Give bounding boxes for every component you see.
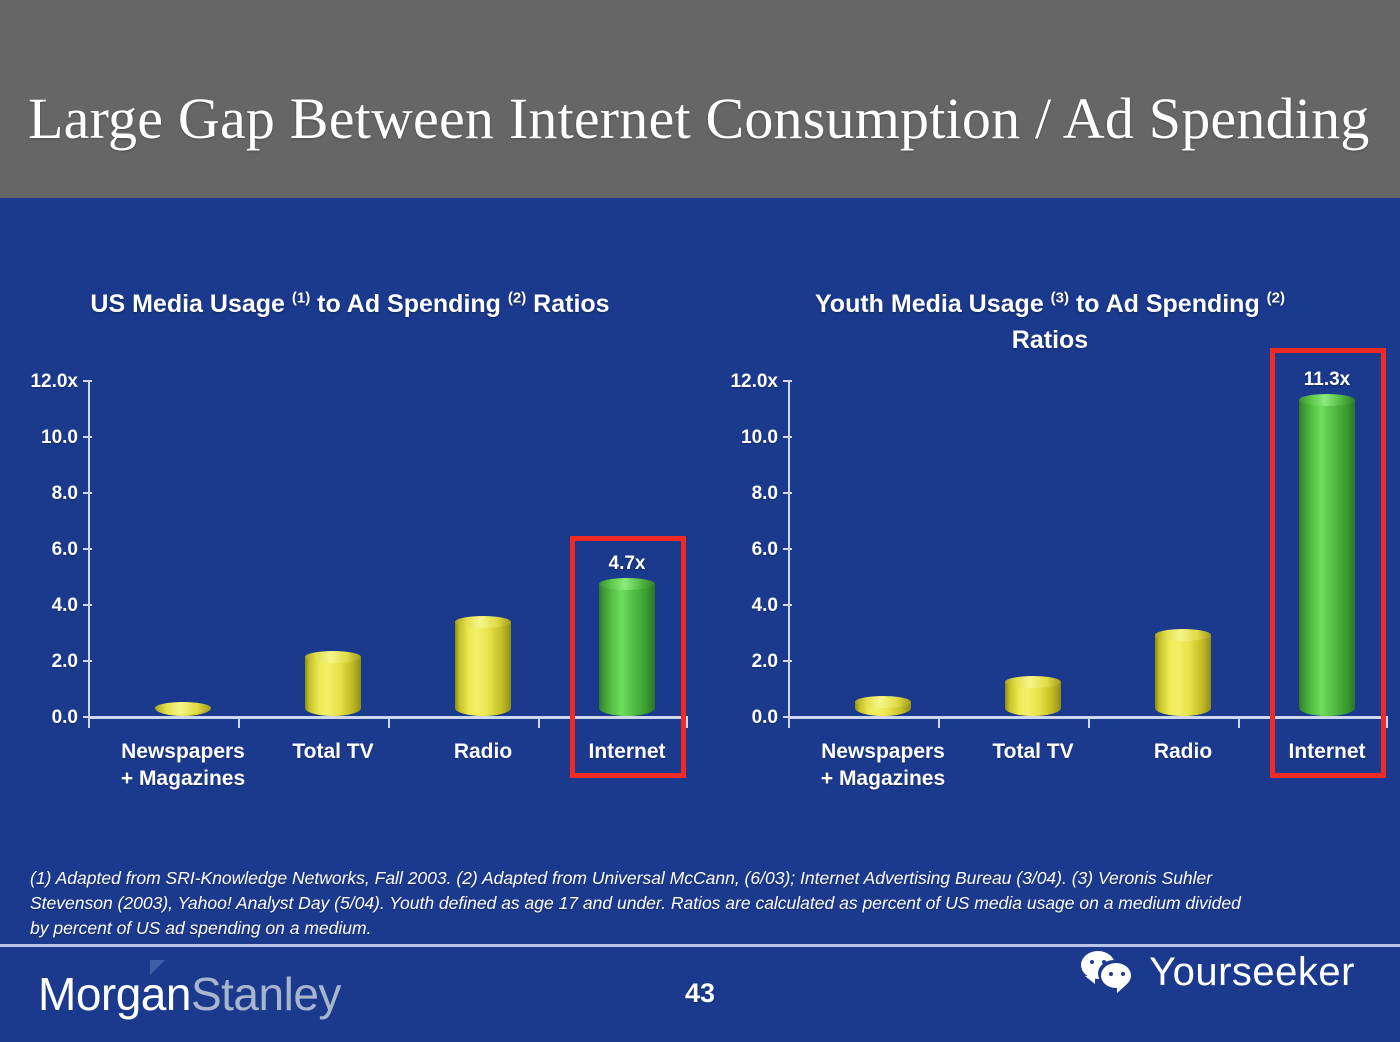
- bar-cap: [455, 616, 511, 628]
- x-tick-mark: [1386, 717, 1388, 728]
- y-tick-label-2: 2.0: [700, 652, 778, 671]
- y-tick-mark: [83, 492, 92, 494]
- y-tick-mark: [783, 604, 792, 606]
- bar-cap: [1005, 676, 1061, 688]
- bar-radio[interactable]: [455, 622, 511, 716]
- slide-header: Large Gap Between Internet Consumption /…: [0, 0, 1400, 198]
- x-tick-mark: [1238, 717, 1240, 728]
- highlight-box-internet-left: [570, 536, 686, 778]
- yourseeker-label: Yourseeker: [1149, 950, 1355, 994]
- y-tick-mark: [83, 436, 92, 438]
- bar-cap: [855, 696, 911, 708]
- x-tick-mark: [388, 717, 390, 728]
- footer-divider: [0, 944, 1400, 947]
- y-tick-mark: [783, 660, 792, 662]
- footnotes: (1) Adapted from SRI-Knowledge Networks,…: [30, 866, 1375, 941]
- y-tick-label-2: 2.0: [0, 652, 78, 671]
- yourseeker-watermark: Yourseeker: [1081, 950, 1355, 994]
- wechat-icon: [1081, 951, 1137, 993]
- y-tick-label-12: 12.0x: [700, 372, 778, 391]
- y-tick-mark: [783, 436, 792, 438]
- bar-total-tv[interactable]: [1005, 682, 1061, 716]
- x-tick-mark: [938, 717, 940, 728]
- y-tick-label-8: 8.0: [700, 484, 778, 503]
- slide: Large Gap Between Internet Consumption /…: [0, 0, 1400, 1042]
- bar-body: [455, 622, 511, 716]
- y-tick-label-4: 4.0: [0, 596, 78, 615]
- bar-cap: [1155, 629, 1211, 641]
- bar-radio[interactable]: [1155, 635, 1211, 716]
- slide-body: US Media Usage (1) to Ad Spending (2) Ra…: [0, 198, 1400, 1042]
- plot-area-right: 12.0x 10.0 8.0 6.0 4.0 2.0 0.0: [700, 198, 1400, 818]
- y-tick-mark: [783, 492, 792, 494]
- bar-newspapers-magazines[interactable]: [855, 702, 911, 716]
- x-tick-mark: [238, 717, 240, 728]
- us-media-usage-chart: US Media Usage (1) to Ad Spending (2) Ra…: [0, 198, 700, 818]
- y-tick-label-6: 6.0: [0, 540, 78, 559]
- footnote-line-3: by percent of US ad spending on a medium…: [30, 916, 1375, 941]
- bar-total-tv[interactable]: [305, 657, 361, 716]
- bar-body: [305, 657, 361, 716]
- y-tick-mark: [83, 548, 92, 550]
- x-tick-mark: [1088, 717, 1090, 728]
- bar-cap: [305, 651, 361, 663]
- bar-newspapers-magazines[interactable]: [155, 708, 211, 716]
- y-tick-label-10: 10.0: [0, 428, 78, 447]
- x-tick-mark: [88, 717, 90, 728]
- y-tick-mark: [783, 548, 792, 550]
- highlight-box-internet-right: [1270, 348, 1386, 778]
- page-title: Large Gap Between Internet Consumption /…: [28, 88, 1369, 150]
- y-tick-mark: [783, 380, 792, 382]
- bar-body: [1155, 635, 1211, 716]
- footnote-line-2: Stevenson (2003), Yahoo! Analyst Day (5/…: [30, 891, 1375, 916]
- x-tick-mark: [538, 717, 540, 728]
- x-tick-mark: [686, 717, 688, 728]
- y-tick-mark: [83, 604, 92, 606]
- x-tick-mark: [788, 717, 790, 728]
- y-tick-mark: [83, 660, 92, 662]
- y-tick-label-6: 6.0: [700, 540, 778, 559]
- youth-media-usage-chart: Youth Media Usage (3) to Ad Spending (2)…: [700, 198, 1400, 818]
- footnote-line-1: (1) Adapted from SRI-Knowledge Networks,…: [30, 866, 1375, 891]
- morgan-stanley-triangle-icon: [150, 960, 165, 975]
- y-tick-label-10: 10.0: [700, 428, 778, 447]
- y-tick-label-4: 4.0: [700, 596, 778, 615]
- y-tick-label-0: 0.0: [700, 708, 778, 727]
- y-tick-label-12: 12.0x: [0, 372, 78, 391]
- x-category-label-line2: + Magazines: [83, 765, 283, 792]
- y-tick-mark: [83, 380, 92, 382]
- y-tick-label-8: 8.0: [0, 484, 78, 503]
- y-tick-label-0: 0.0: [0, 708, 78, 727]
- x-category-label-line2: + Magazines: [783, 765, 983, 792]
- wechat-icon-bubble-small: [1101, 963, 1131, 988]
- plot-area-left: 12.0x 10.0 8.0 6.0 4.0 2.0 0.0: [0, 198, 700, 818]
- bar-cap: [155, 702, 211, 714]
